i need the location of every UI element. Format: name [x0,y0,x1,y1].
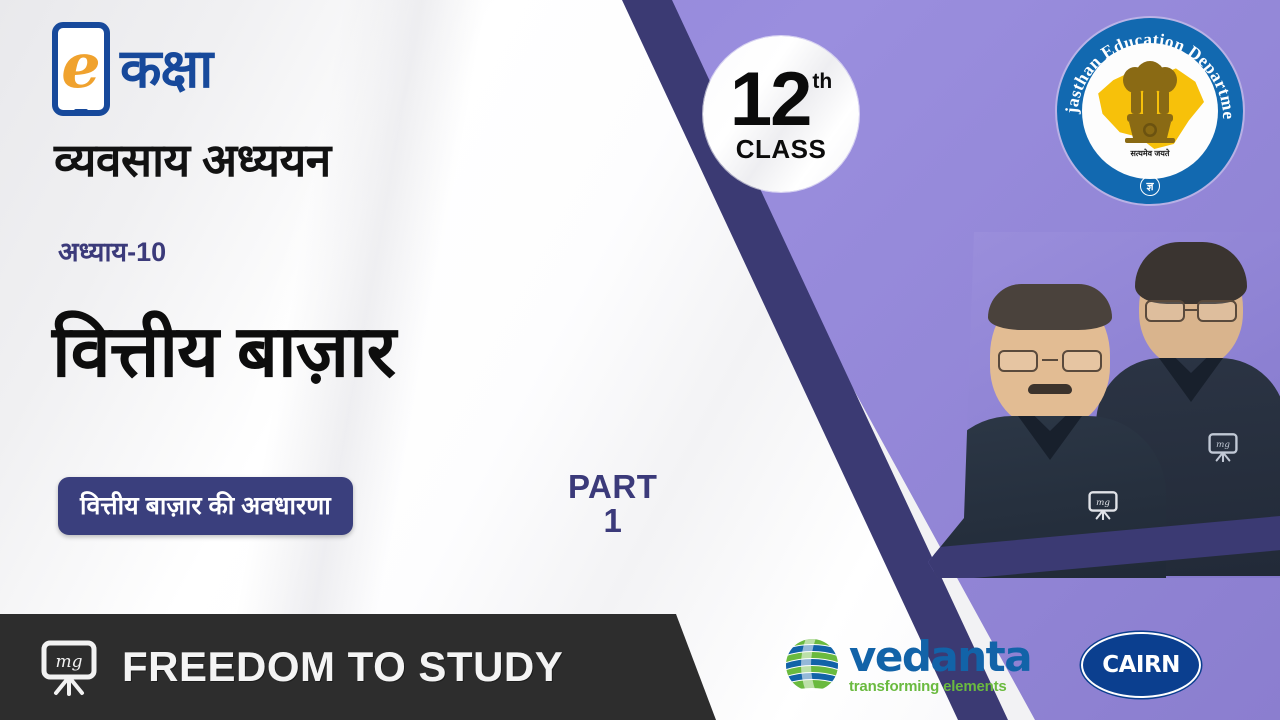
thumbnail-canvas: e कक्षा व्यवसाय अध्ययन अध्याय-10 वित्तीय… [0,0,1280,720]
vedanta-name: vedanta [849,636,1031,678]
class-number: 12 [730,69,811,131]
emblem-motto: सत्यमेव जयते [1082,148,1218,159]
mg-logo-text: mg [55,652,82,672]
instructor-photo-panel: mg mg [928,232,1280,578]
class-badge: 12 th CLASS [703,36,859,192]
sponsor-logos: vedanta transforming elements CAIRN [784,617,1254,713]
vedanta-tagline: transforming elements [849,679,1031,694]
instructor-front-torso: mg [934,416,1166,578]
mg-easel-svg: mg [38,636,100,698]
chapter-label: अध्याय-10 [58,232,166,269]
footer-slogan: FREEDOM TO STUDY [122,643,563,691]
part-number: 1 [568,504,657,538]
emblem-bottom-mark: ज्ञ [1140,176,1160,196]
ekaksha-logo: e कक्षा [52,22,212,116]
mobile-phone-icon: e [52,22,110,116]
instructor-front-head [990,288,1110,428]
instructor-front-collar [1018,416,1082,460]
mg-shirt-logo-icon: mg [1206,432,1240,462]
class-label: CLASS [736,134,827,165]
mg-shirt-logo-icon: mg [1086,490,1120,520]
svg-text:mg: mg [1096,498,1110,508]
rajasthan-education-department-emblem: Rajasthan Education Department [1057,18,1243,204]
mg-easel-icon: mg [38,636,100,698]
emblem-inner-disc: सत्यमेव जयते [1082,43,1218,179]
page-title: वित्तीय बाज़ार [52,300,395,398]
cairn-logo: CAIRN [1083,634,1199,696]
logo-letter-e: e [61,35,100,97]
vedanta-globe-icon [784,637,840,693]
class-number-row: 12 th [730,69,832,131]
instructor-front-hair [988,284,1112,330]
subject-title: व्यवसाय अध्ययन [54,128,331,190]
vedanta-wordmark: vedanta transforming elements [849,636,1031,694]
cairn-name: CAIRN [1102,652,1180,678]
instructor-front-moustache [1028,384,1072,394]
logo-word-kaksha: कक्षा [120,42,212,96]
topic-badge: वित्तीय बाज़ार की अवधारणा [58,477,353,535]
part-label: PART [568,470,657,504]
class-ordinal: th [812,73,832,90]
ashoka-lion-capital-icon [1113,60,1187,156]
instructor-front-glasses-icon [998,350,1102,372]
svg-text:mg: mg [1216,440,1230,450]
instructor-back-collar [1159,358,1223,402]
part-indicator: PART 1 [568,470,657,537]
vedanta-logo: vedanta transforming elements [784,636,1031,694]
footer-bar: mg FREEDOM TO STUDY [0,614,724,720]
